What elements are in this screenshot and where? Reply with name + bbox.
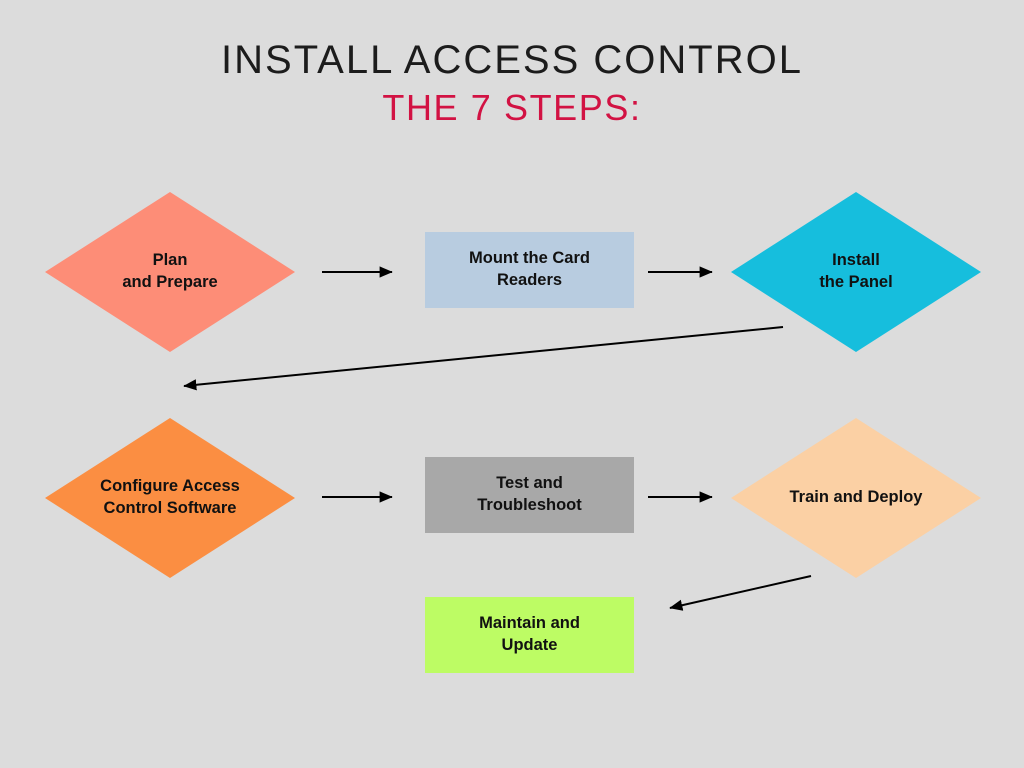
flow-node-step-7[interactable]: Maintain and Update xyxy=(425,597,634,673)
flow-node-step-2[interactable]: Mount the Card Readers xyxy=(425,232,634,308)
flow-node-step-3[interactable]: Install the Panel xyxy=(731,192,981,352)
flow-node-step-4[interactable]: Configure Access Control Software xyxy=(45,418,295,578)
rectangle-shape xyxy=(425,457,634,533)
flow-node-step-1[interactable]: Plan and Prepare xyxy=(45,192,295,352)
rectangle-shape xyxy=(425,232,634,308)
title-block: INSTALL ACCESS CONTROL THE 7 STEPS: xyxy=(0,38,1024,129)
flow-node-step-6[interactable]: Train and Deploy xyxy=(731,418,981,578)
page-title: INSTALL ACCESS CONTROL xyxy=(0,38,1024,83)
diamond-shape xyxy=(731,192,981,352)
arrow-6-to-7 xyxy=(670,576,811,608)
page-subtitle: THE 7 STEPS: xyxy=(0,87,1024,129)
diamond-shape xyxy=(45,418,295,578)
flowchart-canvas: INSTALL ACCESS CONTROL THE 7 STEPS: Plan… xyxy=(0,0,1024,768)
rectangle-shape xyxy=(425,597,634,673)
flow-node-step-5[interactable]: Test and Troubleshoot xyxy=(425,457,634,533)
diamond-shape xyxy=(45,192,295,352)
diamond-shape xyxy=(731,418,981,578)
